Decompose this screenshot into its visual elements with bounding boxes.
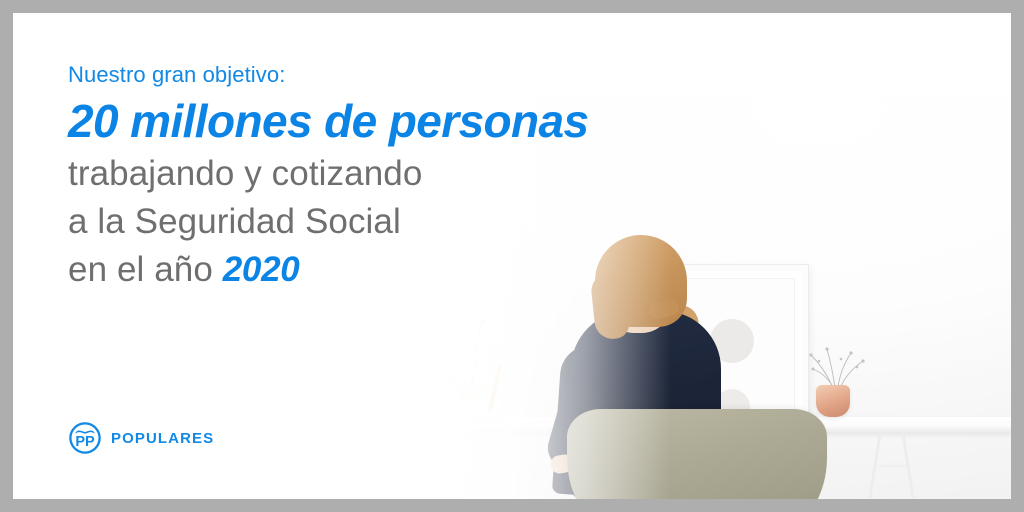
- headline-block: Nuestro gran objetivo: 20 millones de pe…: [68, 61, 708, 293]
- headline-text: 20 millones de personas: [68, 93, 708, 149]
- desk-leg-crossbar: [879, 465, 907, 467]
- svg-text:PP: PP: [75, 434, 95, 450]
- subline-3: en el año 2020: [68, 247, 708, 293]
- pp-wordmark: POPULARES: [111, 430, 214, 447]
- subline-3-prefix: en el año: [68, 250, 223, 289]
- pp-logo[interactable]: PP POPULARES: [68, 421, 214, 455]
- subline-2: a la Seguridad Social: [68, 199, 708, 245]
- subline-1: trabajando y cotizando: [68, 151, 708, 197]
- kicker-text: Nuestro gran objetivo:: [68, 61, 708, 89]
- poster-canvas: Nuestro gran objetivo: 20 millones de pe…: [13, 13, 1011, 499]
- pp-monogram-icon: PP: [68, 421, 102, 455]
- copper-pot: [816, 385, 850, 417]
- target-year: 2020: [223, 250, 300, 289]
